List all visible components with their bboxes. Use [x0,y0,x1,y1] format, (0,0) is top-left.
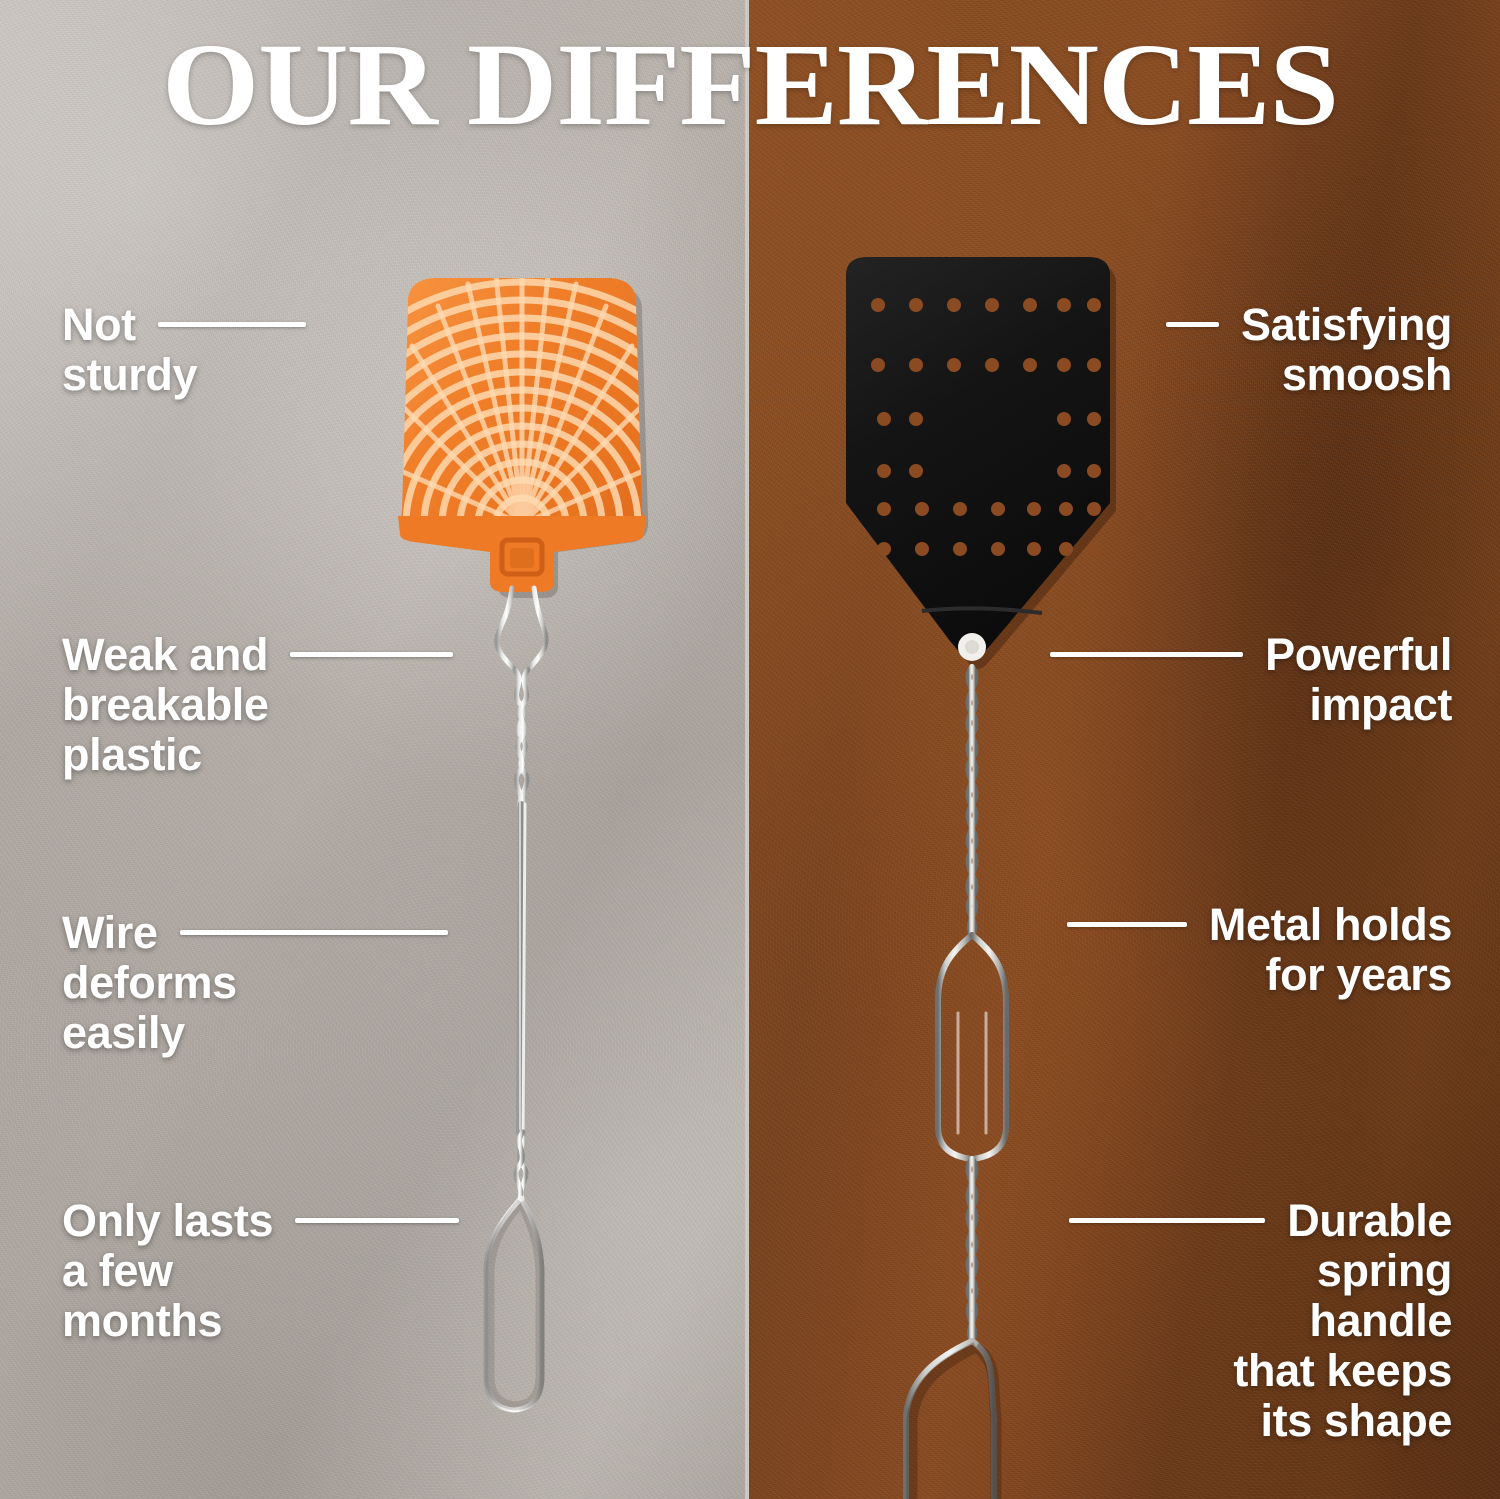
callout-rule [1166,322,1219,327]
callout-text-line: Not [62,300,136,350]
callout-line-row: Powerful [1050,630,1452,680]
callout-rule [1050,652,1243,657]
callout-text-line: Weak and [62,630,268,680]
callout-text-line: impact [1050,680,1452,730]
callout-text-line: Durable [1287,1196,1452,1246]
callout-weak-breakable-plastic: Weak and breakable plastic [62,630,453,780]
callout-text-line: plastic [62,730,453,780]
callout-text-line: for years [1067,950,1452,1000]
callout-text-line: Only lasts [62,1196,273,1246]
callout-not-sturdy: Not sturdy [62,300,306,400]
callout-line-row: Metal holds [1067,900,1452,950]
callout-text-line: its shape [1069,1396,1452,1446]
callout-text-line: breakable [62,680,453,730]
callout-line-row: Wire [62,908,448,958]
callout-text-line: deforms [62,958,448,1008]
callout-text-line: handle [1069,1296,1452,1346]
callout-text-line: Wire [62,908,158,958]
callout-line-row: Durable [1069,1196,1452,1246]
callout-only-lasts-a-few-months: Only lasts a few months [62,1196,459,1346]
callout-rule [1067,922,1187,927]
callout-rule [158,322,306,327]
callout-text-line: that keeps [1069,1346,1452,1396]
callout-text-line: spring [1069,1246,1452,1296]
orange-loop-shadow [490,1202,540,1406]
callout-text-line: Metal holds [1209,900,1452,950]
callout-rule [290,652,453,657]
callout-durable-spring-handle: Durable spring handle that keeps its sha… [1069,1196,1452,1446]
callout-rule [1069,1218,1265,1223]
black-head-body [846,257,1110,661]
callout-line-row: Not [62,300,306,350]
callout-line-row: Only lasts [62,1196,459,1246]
infographic-canvas: OUR DIFFERENCES [0,0,1500,1499]
callout-text-line: sturdy [62,350,306,400]
callout-powerful-impact: Powerful impact [1050,630,1452,730]
callout-line-row: Satisfying [1166,300,1452,350]
panel-divider [745,0,749,1499]
callout-text-line: a few [62,1246,459,1296]
callout-line-row: Weak and [62,630,453,680]
callout-satisfying-smoosh: Satisfying smoosh [1166,300,1452,400]
callout-text-line: smoosh [1166,350,1452,400]
callout-wire-deforms-easily: Wire deforms easily [62,908,448,1058]
page-title: OUR DIFFERENCES [0,26,1500,144]
callout-text-line: easily [62,1008,448,1058]
callout-rule [295,1218,459,1223]
callout-text-line: Satisfying [1241,300,1452,350]
callout-rule [180,930,448,935]
callout-text-line: months [62,1296,459,1346]
callout-metal-holds-for-years: Metal holds for years [1067,900,1452,1000]
callout-text-line: Powerful [1265,630,1452,680]
